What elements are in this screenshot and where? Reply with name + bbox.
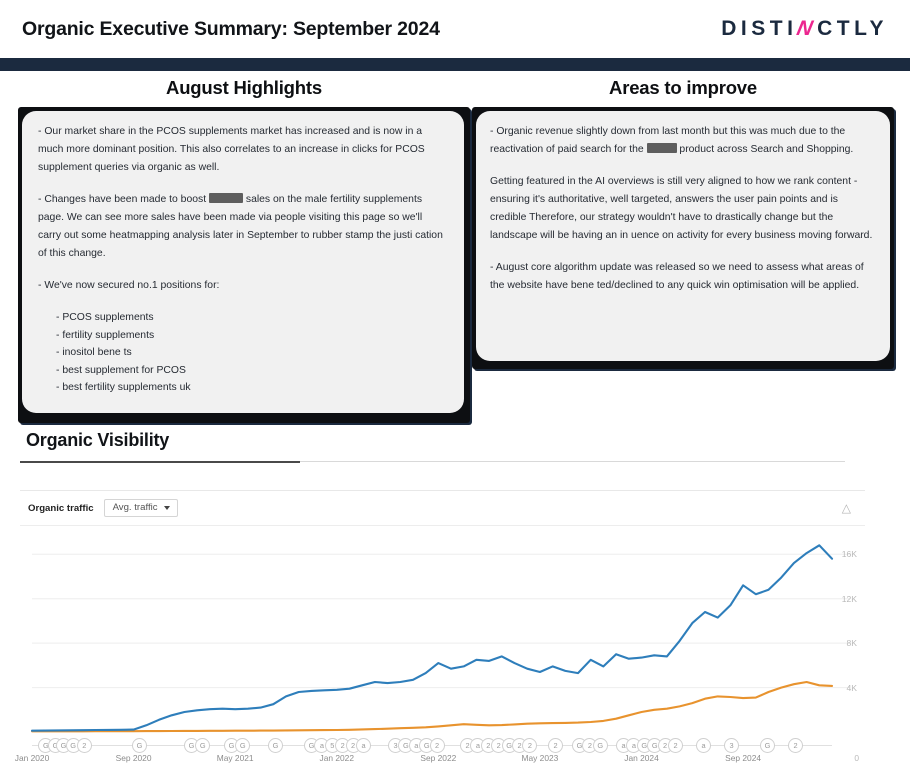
distinctly-logo: DISTINCTLY (721, 17, 888, 41)
algorithm-update-marker[interactable]: 3 (724, 738, 739, 753)
algorithm-update-marker[interactable]: G (235, 738, 250, 753)
chart-gridlines (32, 554, 850, 687)
y-axis-zero-label: 0 (854, 753, 859, 763)
logo-accent-letter: N (795, 17, 820, 41)
improve-paragraph-1: - Organic revenue slightly down from las… (490, 123, 876, 159)
highlight-paragraph-3: - We've now secured no.1 positions for: (38, 277, 448, 295)
series-primary-line (32, 545, 832, 730)
panel-left-heading: August Highlights (18, 77, 470, 99)
chart-header: Organic traffic Avg. traffic △ (20, 491, 865, 526)
list-item: - fertility supplements (38, 327, 448, 345)
algorithm-update-marker[interactable]: 2 (788, 738, 803, 753)
chevron-down-icon (164, 506, 170, 510)
organic-traffic-chart-card: Organic traffic Avg. traffic △ 4K8K12K16… (20, 490, 865, 764)
improve-paragraph-2: Getting featured in the AI overviews is … (490, 173, 876, 245)
redacted-block-right (647, 143, 677, 153)
algorithm-update-marker[interactable]: a (696, 738, 711, 753)
x-axis-tick-label: May 2021 (217, 753, 254, 763)
algorithm-update-marker[interactable]: G (268, 738, 283, 753)
y-axis-tick-label: 16K (842, 549, 857, 559)
chevron-up-icon[interactable]: △ (834, 502, 859, 514)
section-divider-light (300, 461, 845, 462)
algorithm-update-marker[interactable]: 2 (430, 738, 445, 753)
x-axis-tick-label: Sep 2022 (420, 753, 456, 763)
x-axis-tick-label: Sep 2020 (116, 753, 152, 763)
traffic-line-svg (20, 526, 865, 734)
x-axis-tick-label: Sep 2024 (725, 753, 761, 763)
algorithm-update-marker[interactable]: 2 (668, 738, 683, 753)
metric-dropdown-label: Avg. traffic (113, 503, 158, 513)
x-axis-tick-label: Jan 2020 (15, 753, 49, 763)
list-item: - best supplement for PCOS (38, 362, 448, 380)
chart-plot-area[interactable]: 4K8K12K16K (20, 526, 865, 734)
metric-dropdown[interactable]: Avg. traffic (104, 499, 178, 517)
document-header: Organic Executive Summary: September 202… (0, 0, 910, 58)
algorithm-update-marker[interactable]: 2 (77, 738, 92, 753)
algorithm-update-marker[interactable]: G (760, 738, 775, 753)
logo-text-before: DISTI (721, 17, 797, 41)
organic-visibility-section: Organic Visibility (0, 425, 910, 463)
header-divider-bar (0, 58, 910, 71)
algorithm-update-marker[interactable]: 2 (548, 738, 563, 753)
x-axis-tick-label: May 2023 (522, 753, 559, 763)
section-title-organic-visibility: Organic Visibility (26, 430, 910, 451)
panel-areas-to-improve: Areas to improve - Organic revenue sligh… (472, 71, 894, 369)
algorithm-update-marker[interactable]: 2 (522, 738, 537, 753)
panel-august-highlights: August Highlights - Our market share in … (18, 71, 470, 423)
highlight-paragraph-2: - Changes have been made to boost sales … (38, 191, 448, 263)
keyword-position-list: - PCOS supplements - fertility supplemen… (38, 309, 448, 397)
algorithm-update-marker[interactable]: G (132, 738, 147, 753)
x-axis-tick-label: Jan 2024 (624, 753, 658, 763)
list-item: - inositol bene ts (38, 344, 448, 362)
highlight-p2-text-a: - Changes have been made to boost (38, 194, 209, 205)
panel-right-body: - Organic revenue slightly down from las… (476, 111, 890, 361)
algorithm-update-marker[interactable]: G (195, 738, 210, 753)
panel-right-heading: Areas to improve (472, 77, 894, 99)
algorithm-update-marker[interactable]: G (593, 738, 608, 753)
y-axis-tick-label: 4K (846, 683, 857, 693)
y-axis-tick-label: 12K (842, 594, 857, 604)
panel-right-frame: - Organic revenue slightly down from las… (472, 107, 894, 369)
redacted-block-left (209, 193, 243, 203)
chart-x-axis: GGGG2GGGGGGGa522a3GaG22a22G222G2GaaGG22a… (20, 734, 865, 764)
panel-left-frame: - Our market share in the PCOS supplemen… (18, 107, 470, 423)
y-axis-tick-label: 8K (846, 638, 857, 648)
list-item: - PCOS supplements (38, 309, 448, 327)
improve-paragraph-3: - August core algorithm update was relea… (490, 259, 876, 295)
page-title: Organic Executive Summary: September 202… (22, 18, 440, 41)
logo-text-after: CTLY (817, 17, 888, 41)
highlight-paragraph-1: - Our market share in the PCOS supplemen… (38, 123, 448, 177)
panel-left-body: - Our market share in the PCOS supplemen… (22, 111, 464, 413)
section-divider-dark (20, 461, 300, 463)
chart-series-label: Organic traffic (28, 503, 94, 514)
improve-p1-text-b: product across Search and Shopping. (677, 144, 854, 155)
algorithm-update-marker[interactable]: a (356, 738, 371, 753)
section-divider (0, 461, 910, 463)
x-axis-tick-label: Jan 2022 (320, 753, 354, 763)
list-item: - best fertility supplements uk (38, 379, 448, 397)
